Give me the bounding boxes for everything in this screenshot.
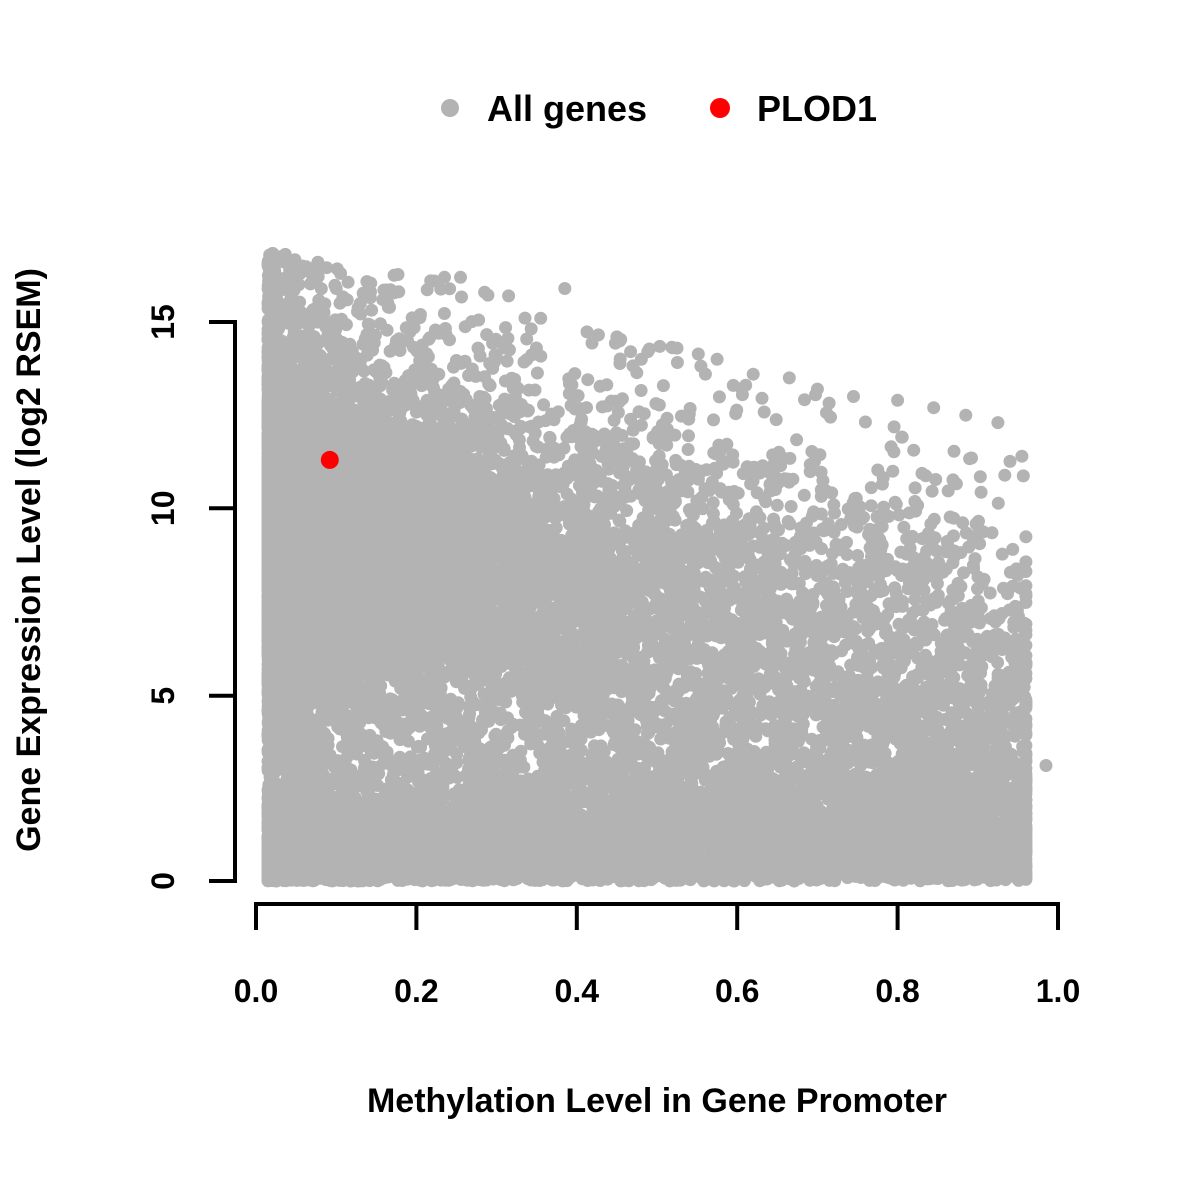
y-axis-title: Gene Expression Level (log2 RSEM) [10,268,48,852]
y-tick-label-2: 10 [145,491,181,527]
all-genes-point-cloud [262,247,1053,888]
legend-label-plod1: PLOD1 [757,88,877,129]
legend-marker-all-genes [441,99,459,117]
y-tick-label-1: 5 [145,687,181,705]
scatter-plot-figure: 0.0 0.2 0.4 0.6 0.8 1.0 0 5 10 15 Methyl… [0,0,1200,1200]
y-tick-label-3: 15 [145,304,181,340]
y-tick-label-0: 0 [145,872,181,890]
x-axis-title: Methylation Level in Gene Promoter [367,1082,947,1120]
x-tick-label-5: 1.0 [1036,973,1080,1009]
x-tick-label-1: 0.2 [394,973,438,1009]
x-tick-label-2: 0.4 [555,973,600,1009]
legend-marker-plod1 [710,98,730,118]
legend: All genes PLOD1 [441,88,877,129]
legend-label-all-genes: All genes [487,88,647,129]
plot-canvas: 0.0 0.2 0.4 0.6 0.8 1.0 0 5 10 15 Methyl… [0,0,1200,1200]
x-tick-label-0: 0.0 [234,973,278,1009]
x-tick-label-4: 0.8 [875,973,919,1009]
x-axis-line [256,904,1058,930]
x-tick-label-3: 0.6 [715,973,759,1009]
y-axis-line [209,322,235,881]
plod1-highlight-point[interactable] [321,451,339,469]
